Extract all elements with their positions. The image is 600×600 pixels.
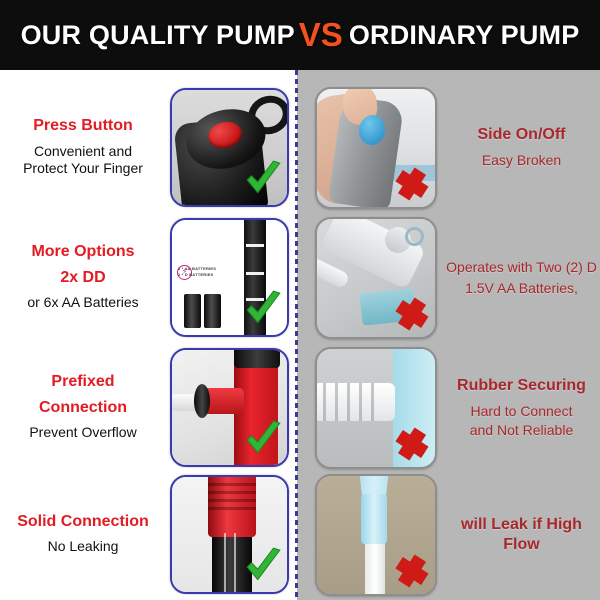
right-row-1-image-card[interactable] bbox=[315, 87, 437, 209]
right-row-3-image-card[interactable] bbox=[315, 347, 437, 469]
right-row-2-line-2: 1.5V AA Batteries, bbox=[443, 278, 600, 298]
right-row-4-title: will Leak if High Flow bbox=[443, 515, 600, 553]
left-row-1-subtitle-line-2: Protect Your Finger bbox=[0, 160, 166, 178]
red-x-icon bbox=[392, 423, 432, 463]
left-row-2-title-line-2: 2x DD bbox=[0, 269, 166, 288]
right-row-1-title: Side On/Off bbox=[443, 125, 600, 144]
left-row-2-title-line-1: More Options bbox=[0, 243, 166, 262]
header-banner: OUR QUALITY PUMP VS ORDINARY PUMP bbox=[0, 0, 600, 70]
right-row-2-image-card[interactable] bbox=[315, 217, 437, 339]
red-x-icon bbox=[392, 550, 432, 590]
right-row-1-subtitle: Easy Broken bbox=[443, 151, 600, 169]
green-check-icon bbox=[242, 159, 284, 201]
left-row-4-subtitle: No Leaking bbox=[0, 538, 166, 556]
left-row-1-subtitle-line-1: Convenient and bbox=[0, 143, 166, 161]
right-row-side-onoff: Side On/Off Easy Broken bbox=[300, 85, 600, 210]
right-row-rubber-securing: Rubber Securing Hard to Connect and Not … bbox=[300, 345, 600, 470]
right-row-1-text: Side On/Off Easy Broken bbox=[437, 125, 600, 170]
left-row-3-subtitle: Prevent Overflow bbox=[0, 424, 166, 442]
battery-caption-line-2: 2 * D BATTERIES bbox=[178, 272, 213, 277]
header-right-title: ORDINARY PUMP bbox=[349, 20, 580, 51]
left-row-3-image-card[interactable] bbox=[170, 348, 289, 467]
comparison-infographic: OUR QUALITY PUMP VS ORDINARY PUMP Press … bbox=[0, 0, 600, 600]
left-row-2-image-card[interactable]: ⚡ 6 * AA BATTERIES 2 * D BATTERIES bbox=[170, 218, 289, 337]
left-row-1-title: Press Button bbox=[0, 117, 166, 136]
battery-caption-line-1: 6 * AA BATTERIES bbox=[178, 266, 216, 271]
center-divider bbox=[295, 70, 298, 600]
header-vs-label: VS bbox=[295, 16, 349, 54]
left-row-solid-connection: Solid Connection No Leaking bbox=[0, 472, 295, 597]
right-row-3-subtitle-line-1: Hard to Connect bbox=[443, 402, 600, 420]
left-row-3-title-line-2: Connection bbox=[0, 399, 166, 418]
left-row-4-title: Solid Connection bbox=[0, 513, 166, 532]
left-row-3-text: Prefixed Connection Prevent Overflow bbox=[0, 373, 170, 443]
left-row-3-title-line-1: Prefixed bbox=[0, 373, 166, 392]
right-row-3-title: Rubber Securing bbox=[443, 376, 600, 395]
left-row-2-text: More Options 2x DD or 6x AA Batteries bbox=[0, 243, 170, 313]
left-row-prefixed-connection: Prefixed Connection Prevent Overflow bbox=[0, 345, 295, 470]
right-row-2-line-1: Operates with Two (2) D bbox=[443, 257, 600, 277]
left-row-press-button: Press Button Convenient and Protect Your… bbox=[0, 85, 295, 210]
left-row-more-options: More Options 2x DD or 6x AA Batteries ⚡ … bbox=[0, 215, 295, 340]
right-row-3-text: Rubber Securing Hard to Connect and Not … bbox=[437, 376, 600, 439]
left-row-1-image-card[interactable] bbox=[170, 88, 289, 207]
green-check-icon bbox=[242, 289, 284, 331]
right-row-4-image-card[interactable] bbox=[315, 474, 437, 596]
header-left-title: OUR QUALITY PUMP bbox=[21, 20, 295, 51]
left-row-4-text: Solid Connection No Leaking bbox=[0, 513, 170, 557]
red-x-icon bbox=[392, 163, 432, 203]
right-row-batteries: Operates with Two (2) D 1.5V AA Batterie… bbox=[300, 215, 600, 340]
right-row-2-text: Operates with Two (2) D 1.5V AA Batterie… bbox=[437, 257, 600, 298]
red-x-icon bbox=[392, 293, 432, 333]
left-row-2-subtitle: or 6x AA Batteries bbox=[0, 294, 166, 312]
left-row-1-text: Press Button Convenient and Protect Your… bbox=[0, 117, 170, 179]
green-check-icon bbox=[242, 419, 284, 461]
right-row-4-text: will Leak if High Flow bbox=[437, 515, 600, 553]
right-row-leak: will Leak if High Flow bbox=[300, 472, 600, 597]
left-row-4-image-card[interactable] bbox=[170, 475, 289, 594]
green-check-icon bbox=[242, 546, 284, 588]
right-row-3-subtitle-line-2: and Not Reliable bbox=[443, 421, 600, 439]
